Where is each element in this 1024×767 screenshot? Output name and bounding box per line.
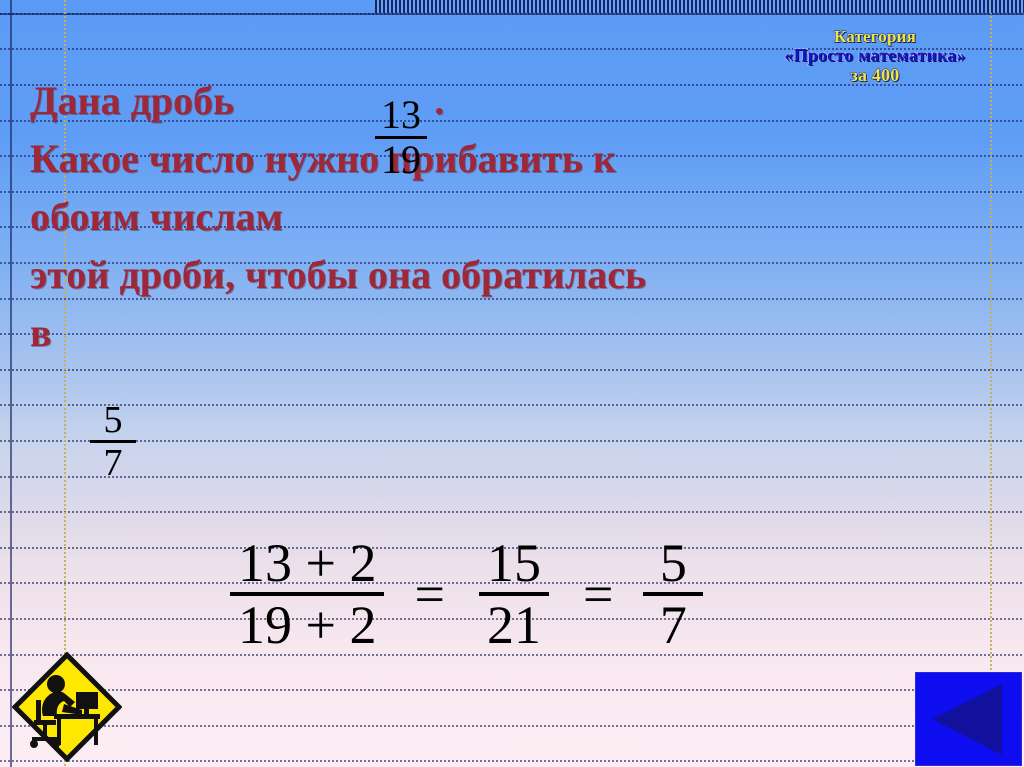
question-line-4-label: этой дроби, чтобы она обратилась bbox=[30, 246, 646, 304]
fraction-numerator: 5 bbox=[652, 534, 695, 592]
fraction-denominator: 19 bbox=[375, 139, 427, 181]
equation-fraction-1: 13 + 2 19 + 2 bbox=[230, 534, 384, 654]
top-edge-band bbox=[375, 0, 1024, 13]
question-line-2: Какое число нужно прибавить к bbox=[30, 130, 960, 188]
fraction-numerator: 15 bbox=[479, 534, 549, 592]
category-line-2: «Просто математика» bbox=[744, 46, 1006, 65]
equation-operator-2: = bbox=[583, 567, 613, 621]
question-line-2-label: Какое число нужно прибавить к bbox=[30, 130, 616, 188]
question-line-1-label: Дана дробь bbox=[30, 72, 234, 130]
fraction-numerator: 5 bbox=[98, 400, 129, 440]
fraction-denominator: 21 bbox=[479, 596, 549, 654]
category-line-1: Категория bbox=[744, 28, 1006, 46]
equation-fraction-2: 15 21 bbox=[479, 534, 549, 654]
question-line-5: в bbox=[30, 304, 960, 362]
fraction-denominator: 7 bbox=[98, 443, 129, 483]
question-line-3: обоим числам bbox=[30, 188, 960, 246]
question-line-4: этой дроби, чтобы она обратилась bbox=[30, 246, 960, 304]
question-line-3-label: обоим числам bbox=[30, 188, 283, 246]
question-line-1-period: . bbox=[434, 72, 444, 130]
fraction-denominator: 19 + 2 bbox=[230, 596, 384, 654]
fraction-numerator: 13 bbox=[375, 94, 427, 136]
fraction-denominator: 7 bbox=[652, 596, 695, 654]
computer-desk-warning-sign-icon bbox=[12, 652, 122, 762]
question-line-1: Дана дробь . bbox=[30, 72, 960, 130]
question-text: Дана дробь . Какое число нужно прибавить… bbox=[30, 72, 960, 362]
fraction-numerator: 13 + 2 bbox=[230, 534, 384, 592]
equation-fraction-3: 5 7 bbox=[643, 534, 703, 654]
back-button[interactable] bbox=[915, 672, 1022, 766]
question-line-5-label: в bbox=[30, 304, 52, 362]
question-fraction-5-7: 5 7 bbox=[90, 400, 136, 483]
equation-operator-1: = bbox=[414, 567, 444, 621]
slide-canvas: Категория «Просто математика» за 400 Дан… bbox=[0, 0, 1024, 767]
question-fraction-13-19: 13 19 bbox=[375, 94, 427, 181]
answer-equation: 13 + 2 19 + 2 = 15 21 = 5 7 bbox=[230, 534, 703, 654]
